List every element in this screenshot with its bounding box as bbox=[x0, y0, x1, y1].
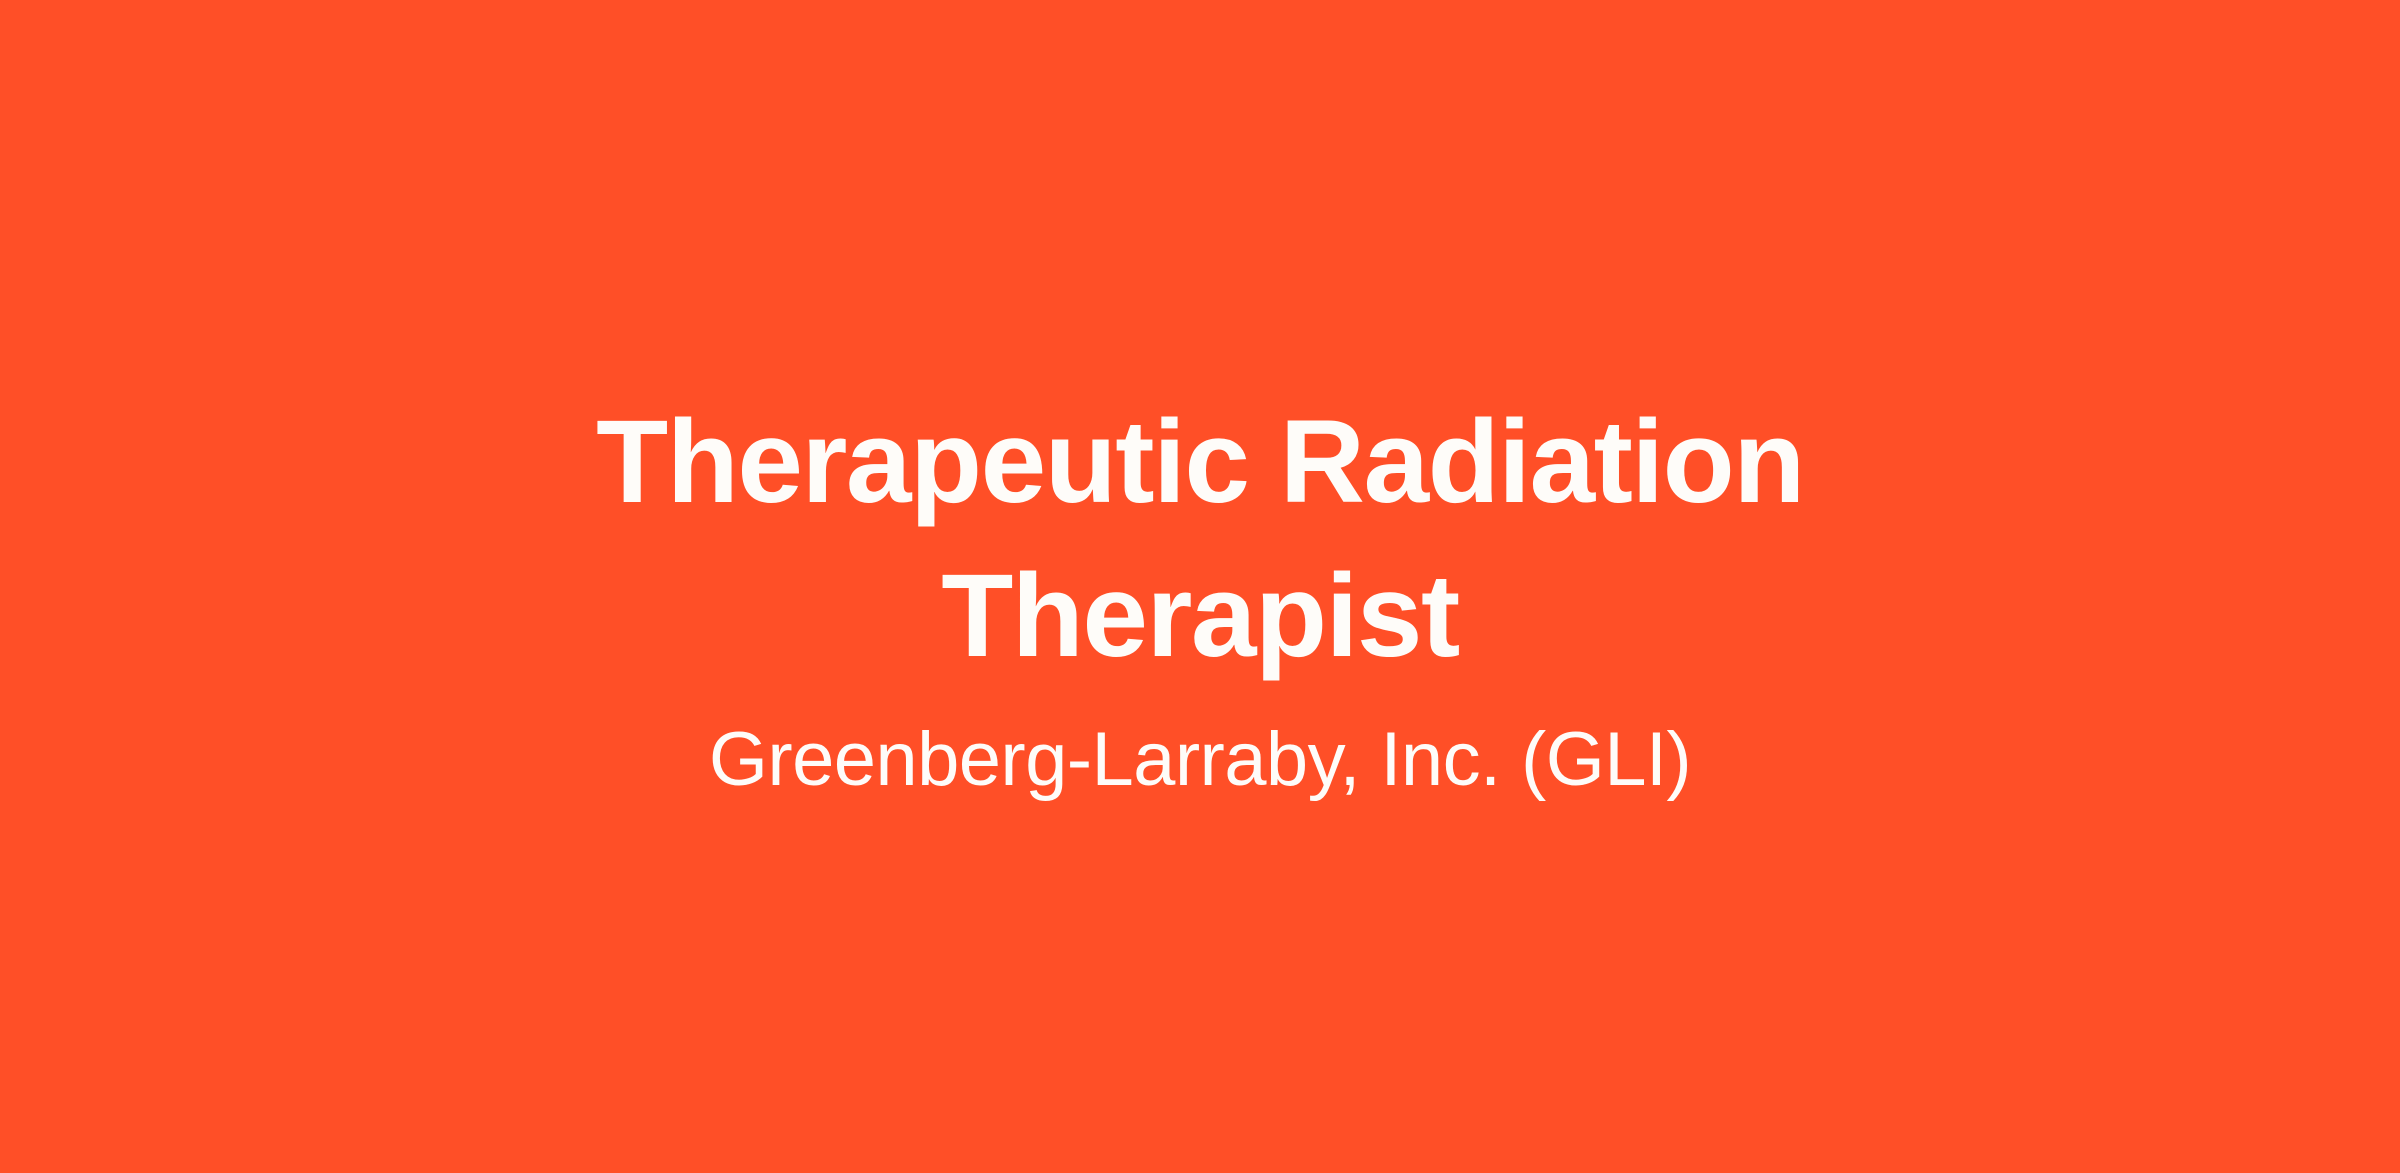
page-subtitle: Greenberg-Larraby, Inc. (GLI) bbox=[709, 716, 1691, 804]
page-title: Therapeutic Radiation Therapist bbox=[520, 385, 1880, 694]
title-card: Therapeutic Radiation Therapist Greenber… bbox=[0, 0, 2400, 1173]
title-card-text-block: Therapeutic Radiation Therapist Greenber… bbox=[520, 385, 1880, 804]
